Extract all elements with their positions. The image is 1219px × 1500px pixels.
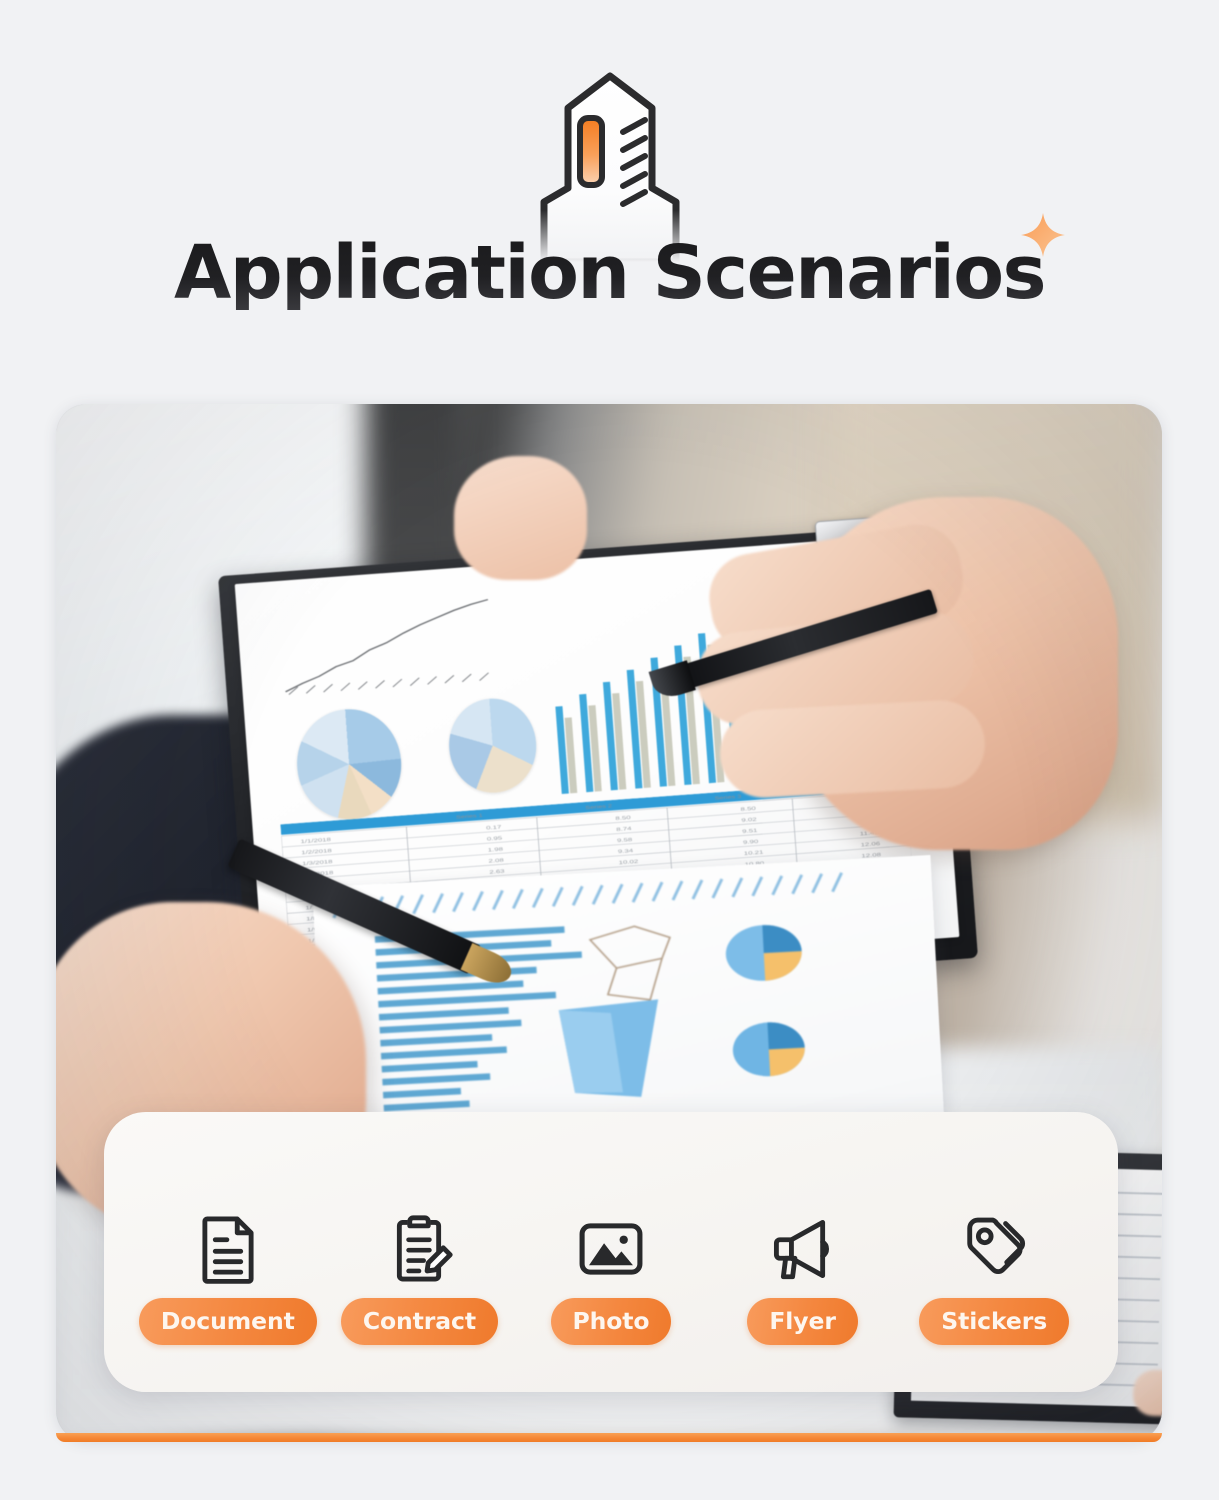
report-pie-chart-2 [446,696,540,795]
svg-text:9.51: 9.51 [742,828,758,834]
svg-text:2.63: 2.63 [489,869,505,875]
finger [717,698,987,800]
feature-item-photo[interactable]: Photo [515,1160,707,1345]
feature-pill-document[interactable]: Document [139,1298,317,1345]
svg-text:0.17: 0.17 [486,825,502,831]
svg-text:8.50: 8.50 [740,806,756,812]
svg-text:12.06: 12.06 [860,841,880,848]
sparkle-star-icon [1020,212,1066,258]
page-title: Application Scenarios [0,236,1219,310]
image-picture-icon [574,1212,648,1286]
feature-pill-stickers[interactable]: Stickers [919,1298,1069,1345]
orange-accent-bar [56,1433,1162,1442]
header-section: Application Scenarios [0,0,1219,404]
svg-text:10.02: 10.02 [618,859,638,866]
megaphone-icon [766,1212,840,1286]
report-pie-chart-1 [293,706,405,823]
feature-pill-contract[interactable]: Contract [341,1298,498,1345]
document-page-icon [191,1212,265,1286]
feature-item-flyer[interactable]: Flyer [707,1160,899,1345]
feature-item-contract[interactable]: Contract [324,1160,516,1345]
price-tag-icon [957,1212,1031,1286]
svg-text:9.02: 9.02 [741,817,757,823]
svg-text:1.98: 1.98 [487,847,503,853]
clipboard-pencil-icon [382,1212,456,1286]
feature-list: Document Con [104,1112,1118,1392]
feature-item-stickers[interactable]: Stickers [898,1160,1090,1345]
feature-item-document[interactable]: Document [132,1160,324,1345]
svg-text:0.95: 0.95 [487,836,503,842]
svg-text:8.50: 8.50 [615,815,631,821]
svg-text:9.58: 9.58 [617,837,633,843]
thumb-holding-paper [454,456,587,580]
svg-text:9.90: 9.90 [743,839,759,845]
svg-text:8.74: 8.74 [616,826,632,832]
feature-pill-flyer[interactable]: Flyer [747,1298,857,1345]
page-title-text: Application Scenarios [174,236,1045,310]
scenario-feature-card: Document Con [104,1112,1118,1392]
svg-text:2.08: 2.08 [488,858,504,864]
feature-pill-photo[interactable]: Photo [551,1298,672,1345]
svg-text:10.21: 10.21 [744,850,764,857]
report-line-chart [271,592,514,698]
svg-text:9.34: 9.34 [618,848,634,854]
page-root: Application Scenarios [0,0,1219,1500]
